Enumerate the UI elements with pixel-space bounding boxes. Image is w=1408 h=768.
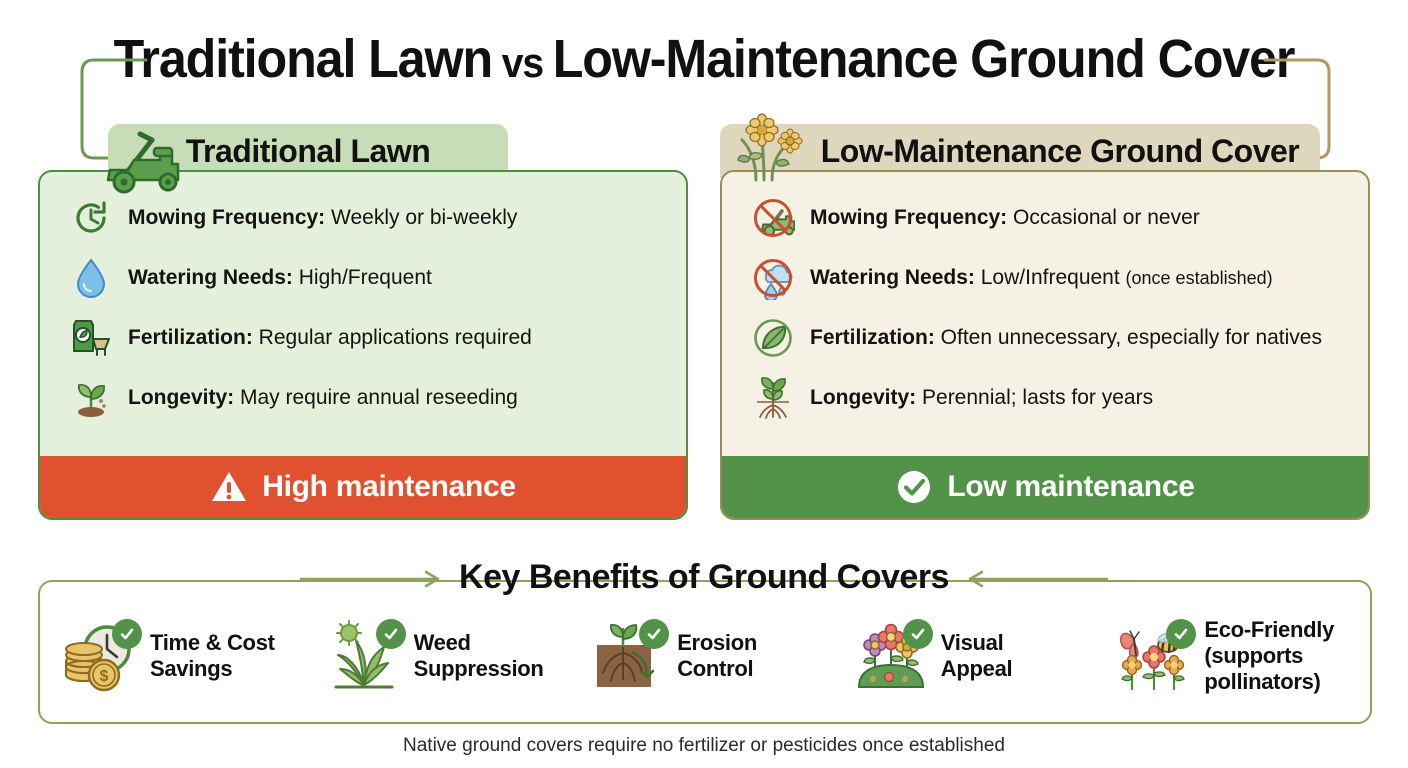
ground-cover-rows: Mowing Frequency: Occasional or never [722,172,1368,442]
row-value: Weekly or bi-weekly [325,206,517,229]
seedling-icon [68,375,114,421]
weed-grass-icon [326,617,404,695]
soil-roots-icon [589,617,667,695]
title-vs: vs [492,39,553,86]
row-label: Longevity: [128,386,234,409]
table-row: Watering Needs: High/Frequent [40,248,686,308]
row-label: Watering Needs: [810,266,975,289]
footer-note: Native ground covers require no fertiliz… [0,735,1408,757]
table-cell: Fertilization: Regular applications requ… [128,326,532,350]
no-mowing-icon [750,195,796,241]
clock-refresh-icon [68,195,114,241]
lawn-mower-icon [94,130,186,198]
traditional-lawn-card: Traditional Lawn [38,124,688,520]
svg-text:$: $ [100,668,109,685]
row-value: May require annual reseeding [234,386,518,409]
wildflowers-icon [732,110,828,186]
row-label: Fertilization: [128,326,253,349]
title-part-left: Traditional Lawn [114,29,492,89]
page-title: Traditional Lawn vs Low-Maintenance Grou… [49,28,1358,90]
high-maintenance-banner: High maintenance [40,456,686,518]
list-item: Visual Appeal [835,617,1099,695]
table-row: Fertilization: Often unnecessary, especi… [722,308,1368,368]
row-label: Mowing Frequency: [810,206,1007,229]
key-benefits-list: $ Time & Cost Savings [44,600,1362,712]
list-item: Erosion Control [571,617,835,695]
table-cell: Watering Needs: Low/Infrequent (once est… [810,266,1273,290]
warning-triangle-icon [210,468,248,506]
flower-bed-icon [853,617,931,695]
table-cell: Longevity: Perennial; lasts for years [810,386,1153,410]
traditional-lawn-card-body: Mowing Frequency: Weekly or bi-weekly Wa… [38,170,688,520]
butterfly-bee-flowers-icon [1116,617,1194,695]
table-cell: Mowing Frequency: Weekly or bi-weekly [128,206,517,230]
table-cell: Watering Needs: High/Frequent [128,266,432,290]
list-item-label: Eco-Friendly (supports pollinators) [1204,617,1334,695]
list-item-label: Weed Suppression [414,630,544,682]
table-row: Watering Needs: Low/Infrequent (once est… [722,248,1368,308]
rooted-plant-icon [750,375,796,421]
water-droplet-icon [68,255,114,301]
fertilizer-bag-icon [68,315,114,361]
check-circle-icon [895,468,933,506]
list-item: Eco-Friendly (supports pollinators) [1098,617,1362,695]
list-item: Weed Suppression [308,617,572,695]
table-row: Mowing Frequency: Occasional or never [722,188,1368,248]
table-row: Fertilization: Regular applications requ… [40,308,686,368]
list-item-label: Time & Cost Savings [150,630,275,682]
table-cell: Fertilization: Often unnecessary, especi… [810,326,1322,350]
row-label: Longevity: [810,386,916,409]
table-cell: Mowing Frequency: Occasional or never [810,206,1200,230]
key-benefits-title-label: Key Benefits of Ground Covers [459,558,949,596]
row-label: Watering Needs: [128,266,293,289]
traditional-lawn-header-label: Traditional Lawn [186,133,430,169]
check-badge-icon [639,619,669,649]
row-value: Regular applications required [253,326,532,349]
row-value: Low/Infrequent [975,266,1126,289]
ground-cover-card-body: Mowing Frequency: Occasional or never [720,170,1370,520]
high-maintenance-label: High maintenance [262,470,516,504]
list-item-label: Visual Appeal [941,630,1013,682]
table-row: Longevity: May require annual reseeding [40,368,686,428]
key-benefits-title: Key Benefits of Ground Covers [0,558,1408,597]
title-part-right: Low-Maintenance Ground Cover [553,29,1295,89]
infographic-canvas: Traditional Lawn vs Low-Maintenance Grou… [0,0,1408,768]
row-label: Fertilization: [810,326,935,349]
row-value: Occasional or never [1007,206,1200,229]
coins-clock-icon: $ [62,617,140,695]
row-note: (once established) [1126,268,1273,288]
check-badge-icon [376,619,406,649]
check-badge-icon [112,619,142,649]
low-maintenance-banner: Low maintenance [722,456,1368,518]
row-label: Mowing Frequency: [128,206,325,229]
traditional-lawn-rows: Mowing Frequency: Weekly or bi-weekly Wa… [40,172,686,442]
leaf-circle-icon [750,315,796,361]
no-watering-icon [750,255,796,301]
list-item-label: Erosion Control [677,630,757,682]
table-cell: Longevity: May require annual reseeding [128,386,518,410]
list-item: $ Time & Cost Savings [44,617,308,695]
low-maintenance-label: Low maintenance [947,470,1194,504]
row-value: Perennial; lasts for years [916,386,1153,409]
row-value: High/Frequent [293,266,432,289]
table-row: Longevity: Perennial; lasts for years [722,368,1368,428]
ground-cover-card: Low-Maintenance Ground Cover [720,124,1370,520]
footer-note-label: Native ground covers require no fertiliz… [403,735,1005,756]
row-value: Often unnecessary, especially for native… [935,326,1322,349]
check-badge-icon [903,619,933,649]
